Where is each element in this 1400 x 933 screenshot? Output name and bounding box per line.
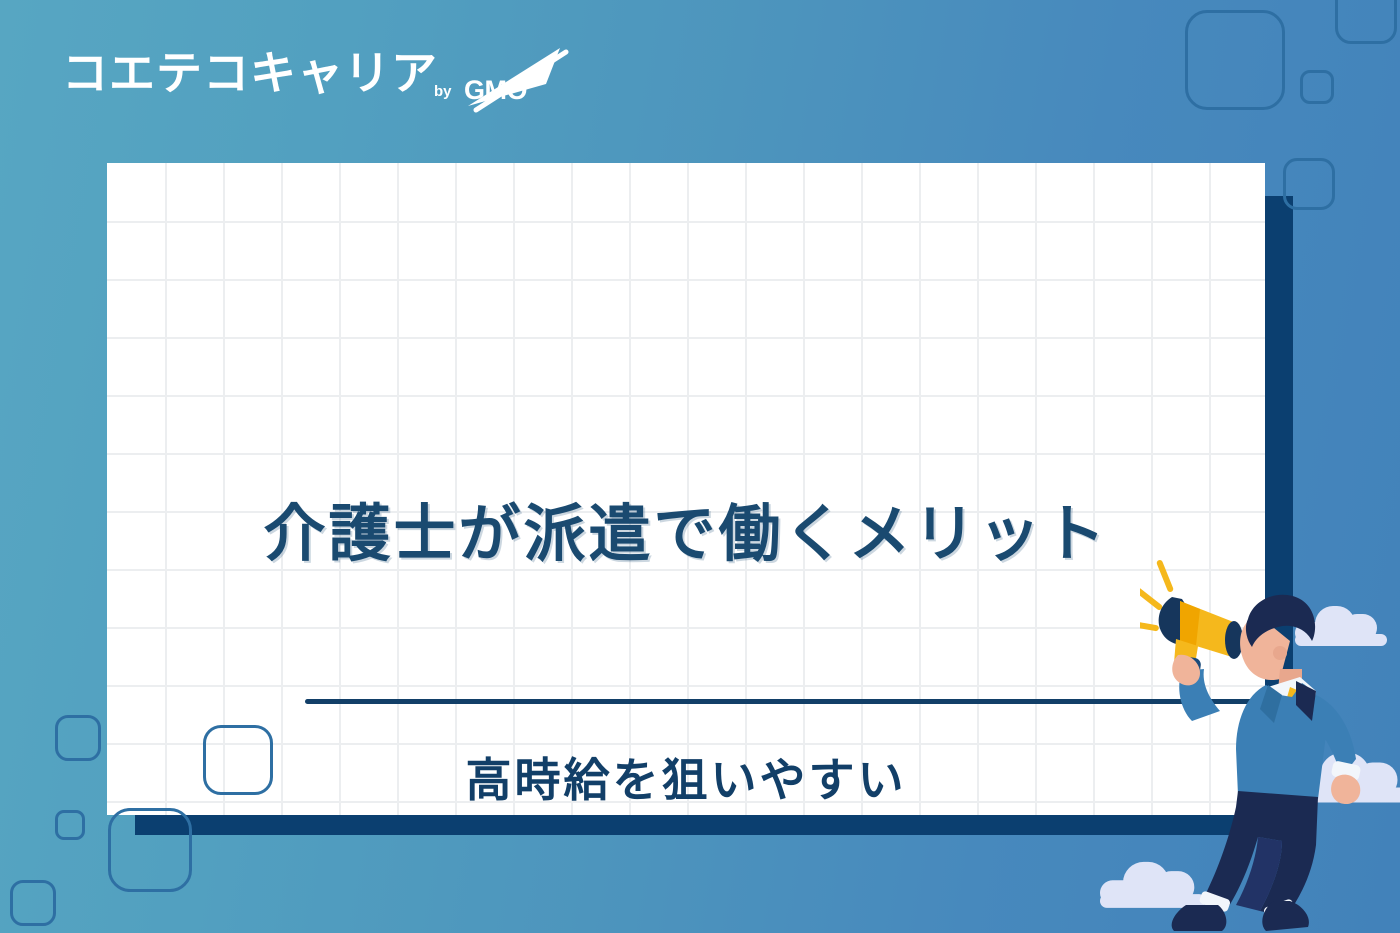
grid-line-vertical (861, 163, 863, 815)
page-title: 介護士が派遣で働くメリット (107, 498, 1265, 569)
deco-square-left-2 (55, 810, 85, 840)
page-subtitle: 高時給を狙いやすい (107, 753, 1265, 808)
brand-company-label: GMO (464, 77, 527, 104)
grid-line-vertical (745, 163, 747, 815)
brand-by-label: by (434, 84, 452, 99)
grid-line-horizontal (107, 337, 1265, 339)
grid-line-vertical (1093, 163, 1095, 815)
grid-line-vertical (397, 163, 399, 815)
grid-line-vertical (803, 163, 805, 815)
grid-line-vertical (977, 163, 979, 815)
grid-line-vertical (919, 163, 921, 815)
deco-square-top-right-3 (1300, 70, 1334, 104)
grid-line-vertical (571, 163, 573, 815)
deco-square-top-right-4 (1283, 158, 1335, 210)
grid-line-vertical (1035, 163, 1037, 815)
grid-line-vertical (223, 163, 225, 815)
deco-square-top-right-1 (1185, 10, 1285, 110)
grid-line-vertical (281, 163, 283, 815)
grid-line-horizontal (107, 395, 1265, 397)
grid-line-horizontal (107, 743, 1265, 745)
grid-line-horizontal (107, 685, 1265, 687)
grid-line-vertical (165, 163, 167, 815)
grid-line-vertical (629, 163, 631, 815)
grid-line-vertical (455, 163, 457, 815)
grid-line-horizontal (107, 221, 1265, 223)
brand-logo[interactable]: コエテコキャリア by GMO (62, 44, 532, 124)
grid-line-vertical (513, 163, 515, 815)
deco-square-left-1 (55, 715, 101, 761)
grid-line-horizontal (107, 279, 1265, 281)
section-divider (305, 699, 1265, 704)
grid-line-horizontal (107, 453, 1265, 455)
grid-line-vertical (687, 163, 689, 815)
brand-logo-text: コエテコキャリア (62, 50, 438, 96)
deco-square-left-3 (10, 880, 56, 926)
man-with-megaphone-illustration (1140, 545, 1400, 933)
deco-square-top-right-2 (1335, 0, 1397, 44)
deco-square-card-1 (203, 725, 273, 795)
grid-line-vertical (339, 163, 341, 815)
slide-canvas: コエテコキャリア by GMO 介護士が派遣で働くメリット 高時給を狙いやすい (0, 0, 1400, 933)
deco-square-bottom-1 (108, 808, 192, 892)
grid-line-horizontal (107, 627, 1265, 629)
content-card: 介護士が派遣で働くメリット 高時給を狙いやすい (107, 163, 1265, 815)
